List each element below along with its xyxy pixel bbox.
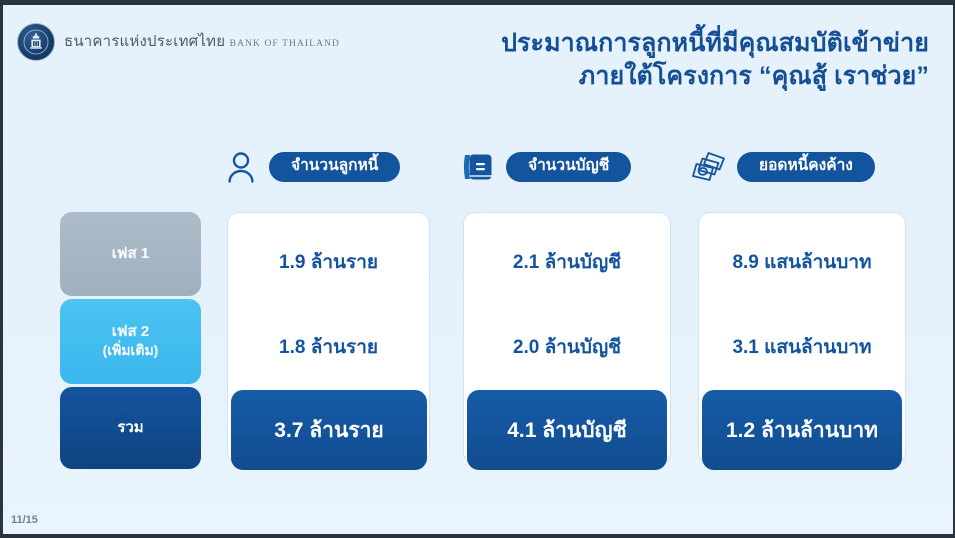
brand-lockup: ธนาคารแห่งประเทศไทย BANK OF THAILAND xyxy=(17,23,340,61)
column-headers: จำนวนลูกหนี้ จำนวนบัญชี xyxy=(3,148,953,196)
page-number: 11/15 xyxy=(11,514,38,526)
column-header-outstanding: ยอดหนี้คงค้าง xyxy=(689,148,875,186)
column-header-label-accounts: จำนวนบัญชี xyxy=(506,152,631,182)
total-debtors: 3.7 ล้านราย xyxy=(231,390,427,470)
column-header-accounts: จำนวนบัญชี xyxy=(458,148,631,186)
bank-of-thailand-seal-icon xyxy=(17,23,55,61)
phase-column: เฟส 1 เฟส 2 (เพิ่มเติม) รวม xyxy=(60,212,201,469)
phase-chip-2-sublabel: (เพิ่มเติม) xyxy=(103,342,159,360)
person-icon xyxy=(221,148,261,186)
page-title-line1: ประมาณการลูกหนี้ที่มีคุณสมบัติเข้าข่าย xyxy=(501,29,929,57)
value-debtors-phase1: 1.9 ล้านราย xyxy=(228,247,429,277)
total-outstanding: 1.2 ล้านล้านบาท xyxy=(702,390,902,470)
value-debtors-phase2: 1.8 ล้านราย xyxy=(228,332,429,362)
page-title: ประมาณการลูกหนี้ที่มีคุณสมบัติเข้าข่าย ภ… xyxy=(309,27,929,93)
page-title-line2: ภายใต้โครงการ “คุณสู้ เราช่วย” xyxy=(309,60,929,93)
column-header-debtors: จำนวนลูกหนี้ xyxy=(221,148,400,186)
phase-chip-total-label: รวม xyxy=(117,419,143,438)
phase-chip-2: เฟส 2 (เพิ่มเติม) xyxy=(60,299,201,384)
phase-chip-1: เฟส 1 xyxy=(60,212,201,296)
total-accounts: 4.1 ล้านบัญชี xyxy=(467,390,667,470)
data-grid: เฟส 1 เฟส 2 (เพิ่มเติม) รวม 1.9 ล้านราย … xyxy=(3,212,953,472)
passbook-icon xyxy=(458,148,498,186)
brand-name-th: ธนาคารแห่งประเทศไทย xyxy=(64,34,225,50)
phase-chip-2-label: เฟส 2 xyxy=(112,323,149,342)
phase-chip-1-label: เฟส 1 xyxy=(112,245,149,264)
slide: ธนาคารแห่งประเทศไทย BANK OF THAILAND ประ… xyxy=(3,5,953,534)
value-outstanding-phase1: 8.9 แสนล้านบาท xyxy=(699,247,905,277)
column-header-label-debtors: จำนวนลูกหนี้ xyxy=(269,152,400,182)
column-header-label-outstanding: ยอดหนี้คงค้าง xyxy=(737,152,875,182)
value-accounts-phase2: 2.0 ล้านบัญชี xyxy=(464,332,670,362)
value-outstanding-phase2: 3.1 แสนล้านบาท xyxy=(699,332,905,362)
phase-chip-total: รวม xyxy=(60,387,201,469)
value-accounts-phase1: 2.1 ล้านบัญชี xyxy=(464,247,670,277)
brand-text: ธนาคารแห่งประเทศไทย BANK OF THAILAND xyxy=(64,34,340,51)
banknotes-icon xyxy=(689,148,729,186)
